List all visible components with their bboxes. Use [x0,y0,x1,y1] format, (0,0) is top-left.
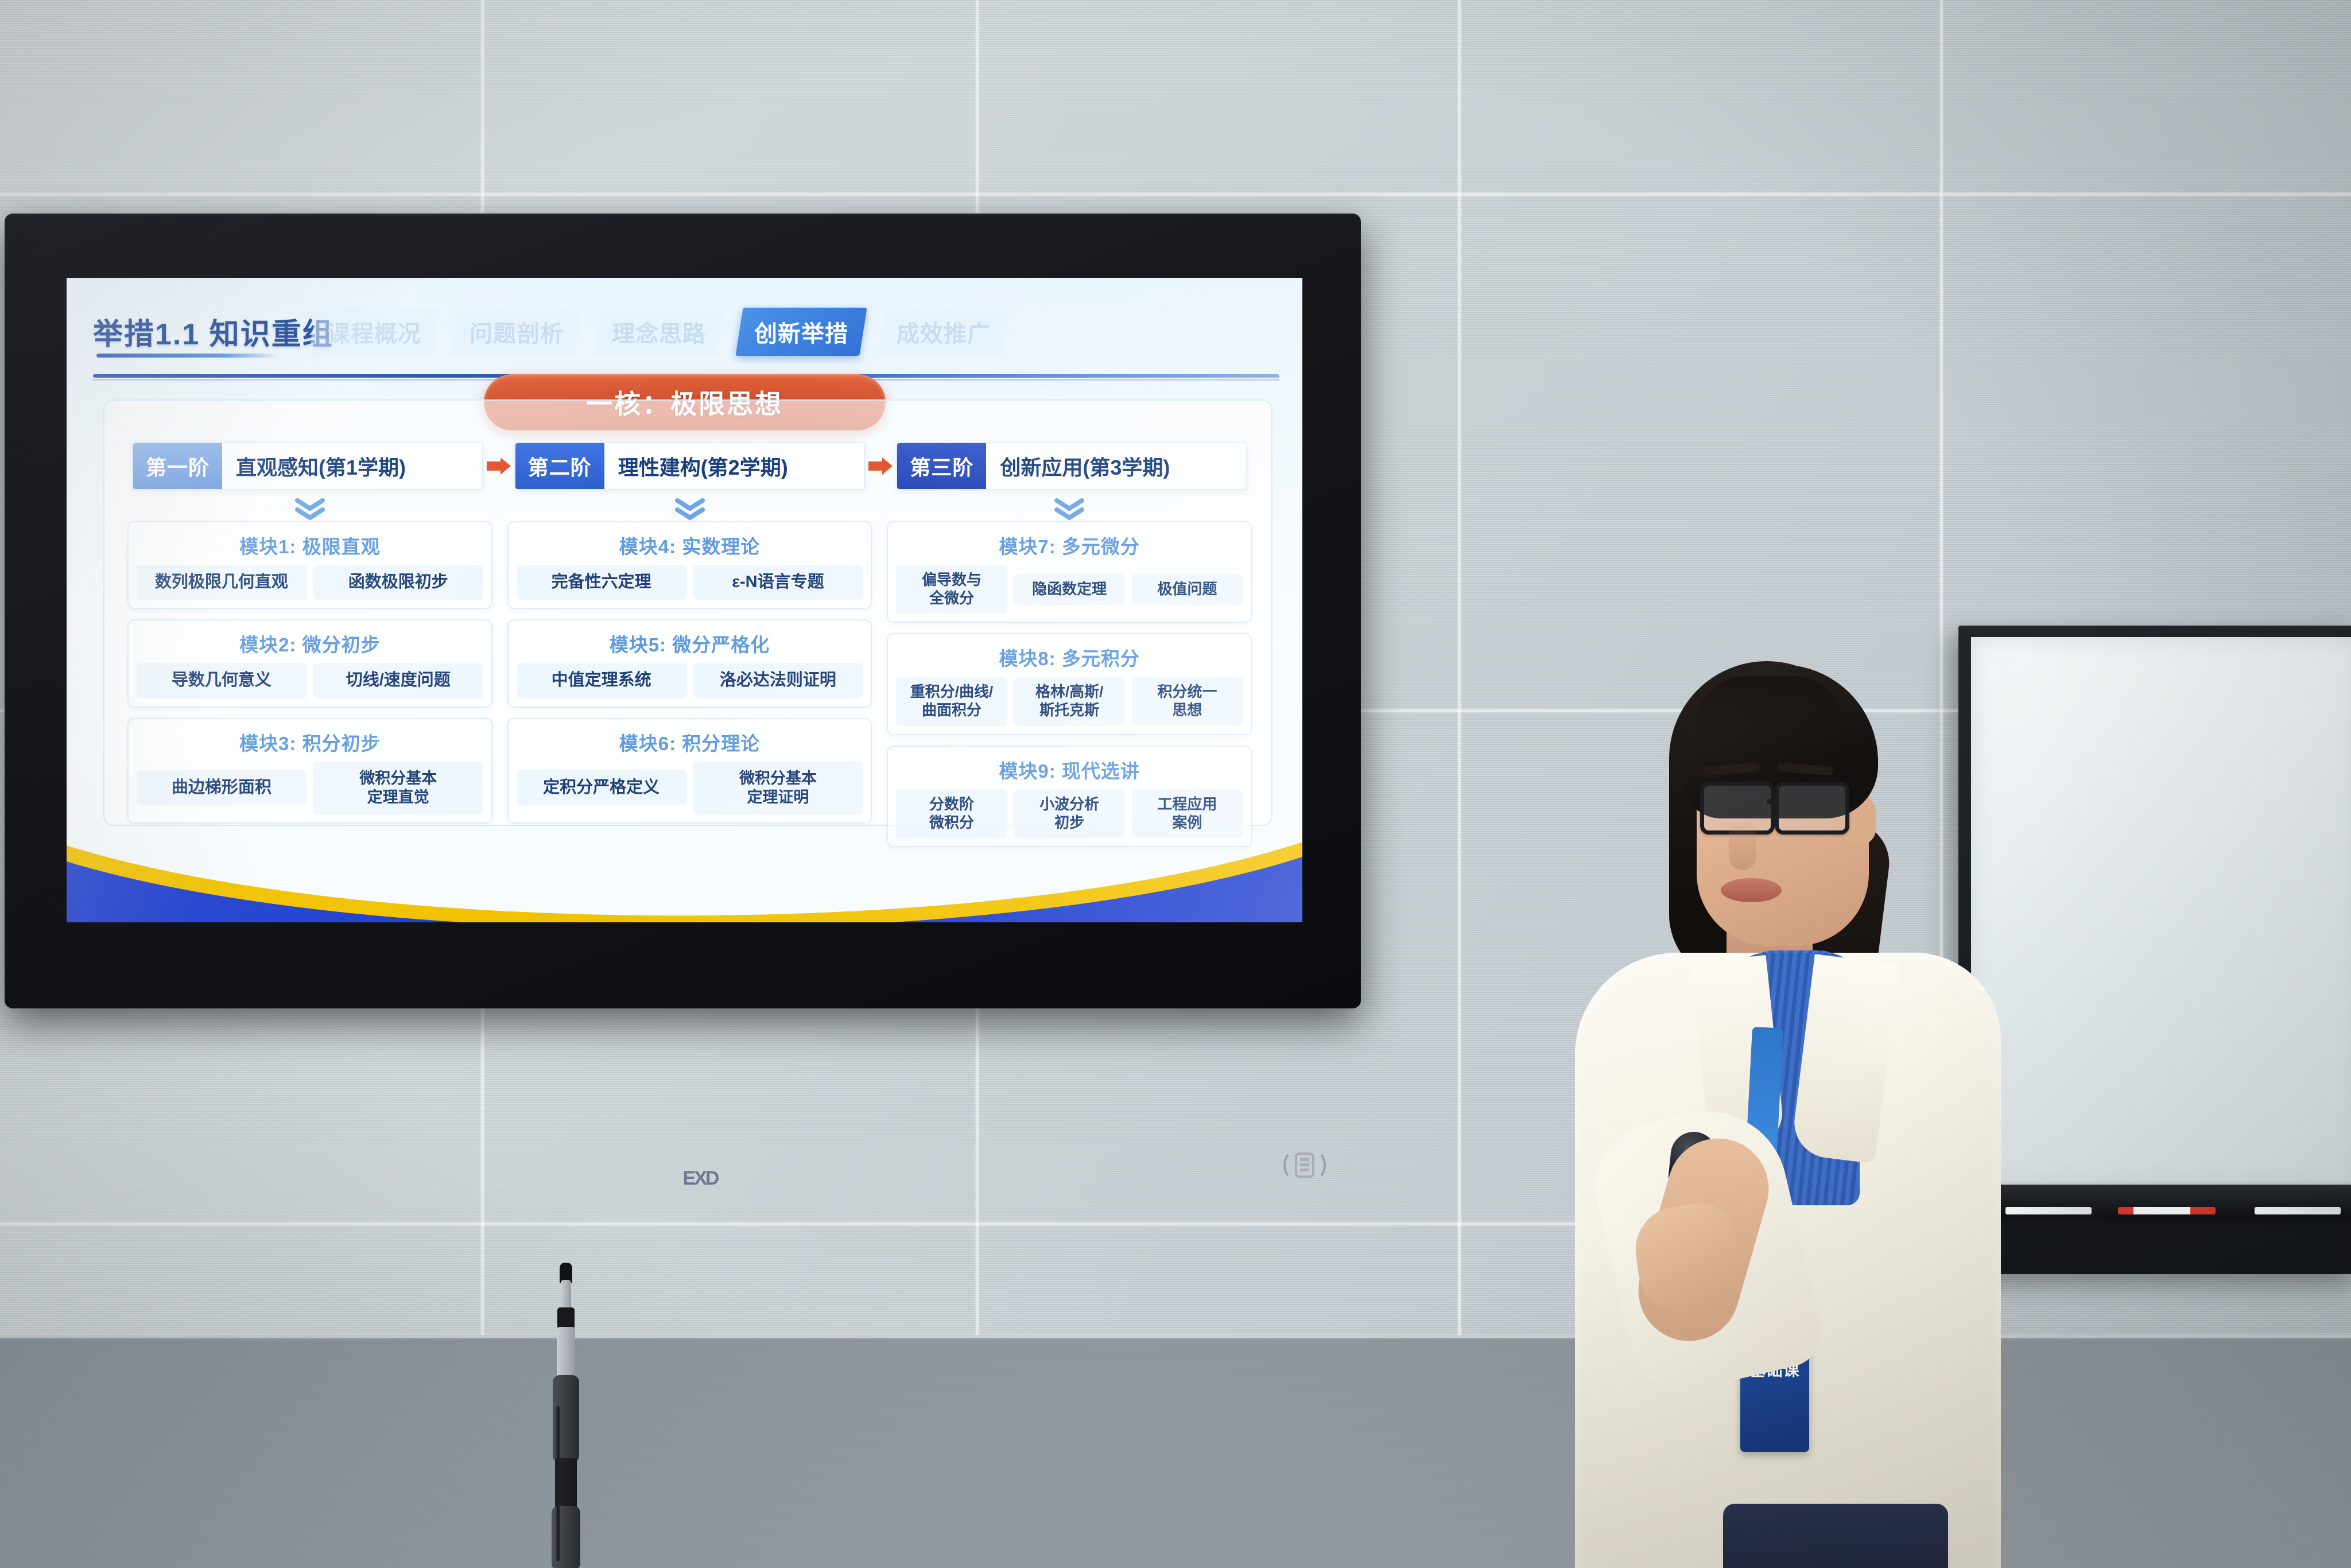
module-card[interactable]: 模块1: 极限直观 数列极限几何直观 函数极限初步 [127,521,492,609]
module-tag: 函数极限初步 [313,565,483,600]
stand-segment [557,1327,575,1377]
module-tags: 数列极限几何直观 函数极限初步 [137,565,483,600]
marker-white[interactable] [2005,1207,2092,1214]
tab-label: 成效推广 [897,315,991,348]
skirt [1723,1504,1948,1568]
chevron-double-down-icon [507,498,872,521]
stand-segment [561,1280,571,1310]
module-card[interactable]: 模块7: 多元微分 偏导数与全微分 隐函数定理 极值问题 [887,521,1252,623]
module-card[interactable]: 模块2: 微分初步 导数几何意义 切线/速度问题 [127,619,492,707]
module-card[interactable]: 模块8: 多元积分 重积分/曲线/曲面积分 格林/高斯/斯托克斯 积分统一思想 [887,633,1252,735]
module-tag: 微积分基本定理证明 [693,762,863,814]
arrow-right-icon [865,456,896,476]
stage-label: 创新应用(第3学期) [986,443,1184,489]
module-tag: ε-N语言专题 [693,565,863,600]
fringe [1696,676,1845,743]
stage-card-1[interactable]: 第一阶 直观感知(第1学期) [132,442,483,490]
module-card[interactable]: 模块6: 积分理论 定积分严格定义 微积分基本定理证明 [507,718,872,824]
title-underline [96,354,279,358]
module-columns: 模块1: 极限直观 数列极限几何直观 函数极限初步 模块2: 微分初步 [127,498,1252,810]
module-title: 模块1: 极限直观 [137,528,483,565]
module-tag: 数列极限几何直观 [137,565,307,600]
chevron-double-down-icon [887,498,1252,521]
module-tag: 格林/高斯/斯托克斯 [1014,677,1125,725]
tab-problem-analysis[interactable]: 问题剖析 [451,308,582,356]
module-column-1: 模块1: 极限直观 数列极限几何直观 函数极限初步 模块2: 微分初步 [127,498,492,810]
tab-course-overview[interactable]: 课程概况 [308,308,440,356]
tab-label: 理念思路 [612,315,706,348]
module-tags: 中值定理系统 洛必达法则证明 [517,663,863,698]
module-tags: 曲边梯形面积 微积分基本定理直觉 [137,762,483,814]
lecture-hall-scene: 举措1.1 知识重组 课程概况 问题剖析 理念思路 创新举措 成效推广 一核：极… [0,0,2351,1568]
slide: 举措1.1 知识重组 课程概况 问题剖析 理念思路 创新举措 成效推广 一核：极… [67,278,1302,922]
module-card[interactable]: 模块4: 实数理论 完备性六定理 ε-N语言专题 [507,521,872,609]
marker-white[interactable] [2255,1207,2341,1214]
eyeglasses-lens-right [1775,782,1849,835]
stage-card-2[interactable]: 第二阶 理性建构(第2学期) [514,442,866,490]
tab-concept-approach[interactable]: 理念思路 [593,308,724,356]
stage-label: 理性建构(第2学期) [604,443,802,489]
module-title: 模块7: 多元微分 [896,528,1243,565]
stage-chip: 第一阶 [133,443,222,489]
whiteboard[interactable] [1958,626,2351,1274]
module-card[interactable]: 模块5: 微分严格化 中值定理系统 洛必达法则证明 [507,619,872,707]
slide-header: 举措1.1 知识重组 课程概况 问题剖析 理念思路 创新举措 成效推广 [93,301,1279,364]
stand-base-column [552,1506,580,1568]
presenter: 基础课 [1573,631,2009,1568]
module-tags: 导数几何意义 切线/速度问题 [137,663,483,698]
module-title: 模块6: 积分理论 [517,725,863,762]
module-tag: 微积分基本定理直觉 [313,762,483,814]
slide-nav-tabs: 课程概况 问题剖析 理念思路 创新举措 成效推广 [312,308,1006,356]
stage-row: 第一阶 直观感知(第1学期) 第二阶 理性建构(第2学期) [132,442,1247,490]
module-title: 模块2: 微分初步 [137,626,483,663]
module-tags: 偏导数与全微分 隐函数定理 极值问题 [896,565,1243,614]
stage-card-3[interactable]: 第三阶 创新应用(第3学期) [896,442,1247,490]
stage-chip: 第三阶 [897,443,986,489]
module-card[interactable]: 模块3: 积分初步 曲边梯形面积 微积分基本定理直觉 [127,718,492,824]
chevron-double-down-icon [127,498,492,521]
module-tags: 重积分/曲线/曲面积分 格林/高斯/斯托克斯 积分统一思想 [896,677,1243,725]
page-title: 举措1.1 知识重组 [93,310,333,353]
module-tag: 极值问题 [1132,574,1243,605]
stand-clamp [557,1307,575,1329]
module-tag: 中值定理系统 [517,663,686,698]
arrow-right-icon [483,456,514,476]
module-title: 模块3: 积分初步 [137,725,483,762]
marker-red[interactable] [2118,1207,2216,1214]
module-title: 模块4: 实数理论 [517,528,863,565]
module-tag: 积分统一思想 [1132,677,1243,725]
module-tag: 切线/速度问题 [313,663,483,698]
slide-footer-wave [67,819,1302,922]
module-tags: 定积分严格定义 微积分基本定理证明 [517,762,863,814]
module-tag: 完备性六定理 [517,565,686,600]
module-column-2: 模块4: 实数理论 完备性六定理 ε-N语言专题 模块5: 微分严格化 [507,498,872,810]
tab-label: 问题剖析 [470,315,564,348]
nose [1729,821,1756,870]
module-tags: 完备性六定理 ε-N语言专题 [517,565,863,600]
ir-sensor-icon [1282,1149,1327,1181]
module-title: 模块9: 现代选讲 [896,752,1243,789]
module-tag: 偏导数与全微分 [896,565,1007,614]
tab-label: 创新举措 [754,315,848,348]
module-title: 模块5: 微分严格化 [517,626,863,663]
tab-results-promotion[interactable]: 成效推广 [878,308,1009,356]
display-panel: 举措1.1 知识重组 课程概况 问题剖析 理念思路 创新举措 成效推广 一核：极… [5,214,1361,1008]
stage-chip: 第二阶 [515,443,604,489]
module-title: 模块8: 多元积分 [896,640,1243,677]
mouth [1721,878,1782,902]
tv-brand-logo: EXD [643,1167,758,1193]
module-tag: 洛必达法则证明 [693,663,863,698]
tab-innovation-measures[interactable]: 创新举措 [735,308,867,356]
module-tag: 导数几何意义 [137,663,307,698]
stand-cable [557,1406,560,1561]
wall-seam [0,193,2351,196]
module-tag: 定积分严格定义 [517,770,686,805]
whiteboard-surface[interactable] [1971,637,2351,1187]
module-tag: 隐函数定理 [1014,574,1125,605]
equipment-stand [550,1263,582,1568]
eyeglasses-bridge [1767,799,1779,804]
wall-seam [1458,0,1461,1568]
curriculum-frame: 第一阶 直观感知(第1学期) 第二阶 理性建构(第2学期) [103,399,1273,826]
presentation-screen: 举措1.1 知识重组 课程概况 问题剖析 理念思路 创新举措 成效推广 一核：极… [67,278,1302,922]
marker-tray [1968,1185,2351,1217]
module-column-3: 模块7: 多元微分 偏导数与全微分 隐函数定理 极值问题 模块8: 多元积分 [887,498,1252,810]
module-tag: 重积分/曲线/曲面积分 [896,677,1007,725]
tab-label: 课程概况 [327,315,421,348]
module-tag: 曲边梯形面积 [137,770,307,805]
stage-label: 直观感知(第1学期) [222,443,420,489]
